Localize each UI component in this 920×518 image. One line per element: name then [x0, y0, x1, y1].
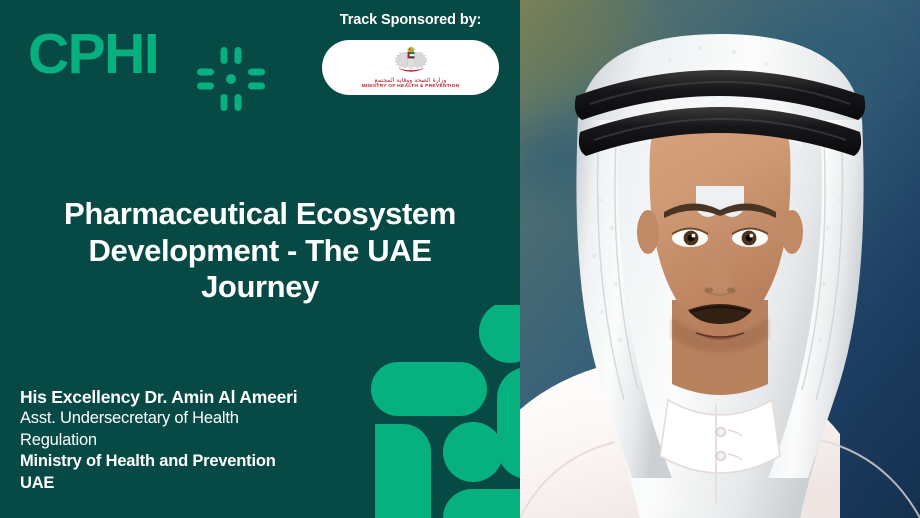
sponsor-name-english: MINISTRY OF HEALTH & PREVENTION: [362, 85, 460, 90]
speaker-role-line-2: Regulation: [20, 430, 360, 451]
cphi-logo: CPHI: [28, 26, 158, 83]
sponsor-block: Track Sponsored by:: [322, 12, 499, 95]
speaker-details: His Excellency Dr. Amin Al Ameeri Asst. …: [20, 386, 360, 494]
speaker-country: UAE: [20, 473, 360, 494]
sponsor-logo-box: وزارة الصحة ووقاية المجتمع MINISTRY OF H…: [322, 40, 499, 95]
speaker-organization: Ministry of Health and Prevention: [20, 451, 360, 472]
session-card: CPHI Track Sponsored by:: [0, 0, 920, 518]
speaker-name: His Excellency Dr. Amin Al Ameeri: [20, 386, 360, 408]
session-title: Pharmaceutical Ecosystem Development - T…: [30, 196, 490, 306]
left-content-panel: CPHI Track Sponsored by:: [0, 0, 520, 518]
sponsor-label: Track Sponsored by:: [322, 12, 499, 29]
decorative-shape-cluster: [355, 305, 520, 518]
speaker-role-line-1: Asst. Undersecretary of Health: [20, 408, 360, 429]
cphi-wordmark: CPHI: [28, 26, 158, 83]
cphi-sunburst-icon: [193, 42, 269, 118]
uae-falcon-emblem-icon: [394, 46, 428, 77]
speaker-portrait-photo: [520, 0, 920, 518]
